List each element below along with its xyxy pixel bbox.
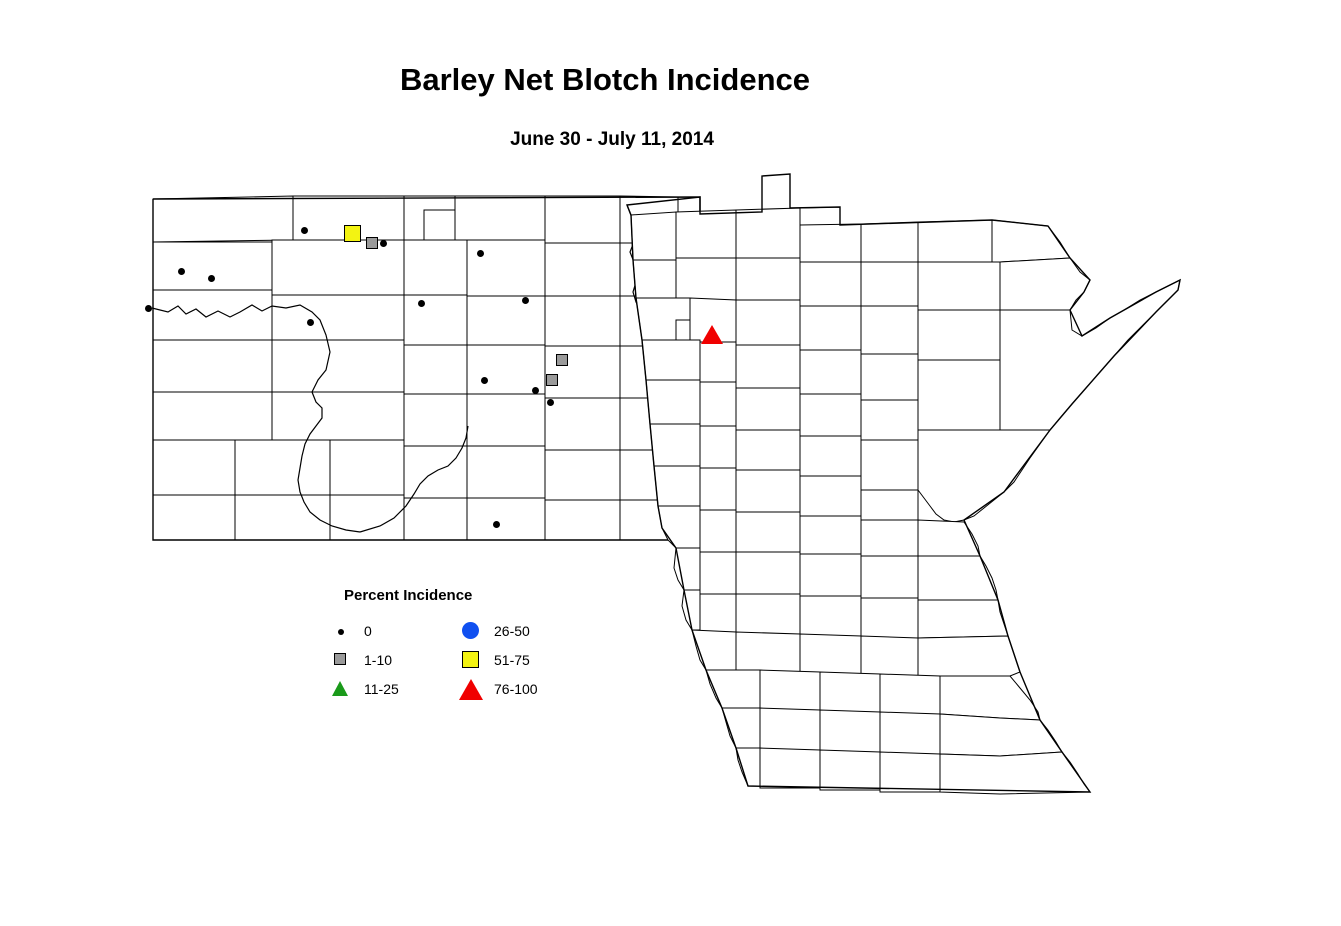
map-marker-1-10 bbox=[556, 354, 568, 366]
map-marker-1-10 bbox=[366, 237, 378, 249]
legend-column-right: 26-50 51-75 76-100 bbox=[460, 620, 590, 707]
map-marker-0 bbox=[532, 387, 539, 394]
north-dakota-counties bbox=[153, 196, 700, 540]
map-marker-0 bbox=[481, 377, 488, 384]
map-marker-0 bbox=[145, 305, 152, 312]
legend-column-left: 0 1-10 11-25 bbox=[330, 620, 450, 707]
legend-label-26-50: 26-50 bbox=[494, 623, 530, 639]
map-page: Barley Net Blotch Incidence June 30 - Ju… bbox=[0, 0, 1341, 926]
map-marker-0 bbox=[493, 521, 500, 528]
map-marker-0 bbox=[418, 300, 425, 307]
map-marker-76-100 bbox=[701, 325, 723, 344]
legend-item-0[interactable]: 0 bbox=[330, 620, 450, 649]
minnesota-counties bbox=[631, 207, 1180, 794]
map-marker-0 bbox=[301, 227, 308, 234]
map-marker-1-10 bbox=[546, 374, 558, 386]
legend-title: Percent Incidence bbox=[344, 587, 472, 604]
blue-circle-icon bbox=[460, 620, 488, 644]
map-marker-0 bbox=[380, 240, 387, 247]
yellow-square-icon bbox=[460, 649, 488, 673]
map-marker-0 bbox=[178, 268, 185, 275]
legend-item-1-10[interactable]: 1-10 bbox=[330, 649, 450, 678]
gray-square-icon bbox=[330, 649, 358, 673]
map-marker-0 bbox=[208, 275, 215, 282]
legend-label-76-100: 76-100 bbox=[494, 681, 538, 697]
county-map bbox=[0, 0, 1341, 926]
red-triangle-icon bbox=[460, 678, 488, 702]
map-marker-0 bbox=[307, 319, 314, 326]
map-marker-51-75 bbox=[344, 225, 361, 242]
legend-label-0: 0 bbox=[364, 623, 372, 639]
green-triangle-icon bbox=[330, 678, 358, 702]
legend-label-1-10: 1-10 bbox=[364, 652, 392, 668]
legend-item-26-50[interactable]: 26-50 bbox=[460, 620, 590, 649]
legend-item-76-100[interactable]: 76-100 bbox=[460, 678, 590, 707]
map-marker-0 bbox=[522, 297, 529, 304]
map-marker-0 bbox=[547, 399, 554, 406]
legend-item-11-25[interactable]: 11-25 bbox=[330, 678, 450, 707]
dot-icon bbox=[330, 620, 358, 644]
legend-label-51-75: 51-75 bbox=[494, 652, 530, 668]
legend-label-11-25: 11-25 bbox=[364, 681, 399, 697]
legend-item-51-75[interactable]: 51-75 bbox=[460, 649, 590, 678]
map-marker-0 bbox=[477, 250, 484, 257]
map-legend: Percent Incidence 0 1-10 11-25 26-50 bbox=[330, 580, 590, 715]
